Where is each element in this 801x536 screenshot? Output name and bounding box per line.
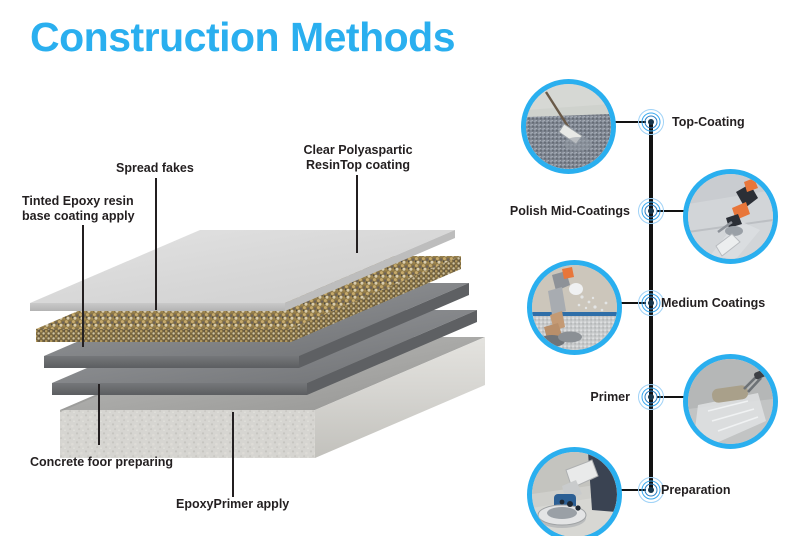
callout-tinted-epoxy: Tinted Epoxy resin base coating apply (22, 194, 135, 224)
photo-medium-coatings[interactable] (527, 260, 622, 355)
timeline-label-top-coating: Top-Coating (672, 115, 745, 129)
leader-line-spread-flakes (155, 178, 157, 310)
infographic-canvas: Construction Methods (0, 0, 801, 536)
squeegee-spreading-topcoat-image (526, 84, 611, 169)
leader-line-tinted-epoxy (82, 225, 84, 347)
photo-top-coating[interactable] (521, 79, 616, 174)
timeline-label-primer: Primer (420, 390, 630, 404)
layer-stack-graphic (30, 215, 500, 480)
node-center-dot (648, 394, 654, 400)
worker-polishing-floor-image (688, 174, 773, 259)
leader-line-concrete-floor (98, 384, 100, 445)
photo-polish-mid-coatings[interactable] (683, 169, 778, 264)
worker-broadcasting-flakes-image (532, 265, 617, 350)
roller-applying-primer-image (688, 359, 773, 444)
timeline-label-medium-coatings: Medium Coatings (661, 296, 765, 310)
callout-spread-flakes: Spread fakes (116, 161, 194, 176)
photo-preparation[interactable] (527, 447, 622, 536)
callout-concrete-floor: Concrete foor preparing (30, 455, 173, 470)
photo-primer[interactable] (683, 354, 778, 449)
leader-line-clear-topcoat (356, 175, 358, 253)
callout-clear-topcoat: Clear Polyaspartic ResinTop coating (303, 143, 413, 173)
floor-grinding-machine-image (532, 452, 617, 536)
node-top-coating[interactable] (638, 109, 664, 135)
timeline-label-preparation: Preparation (661, 483, 730, 497)
callout-epoxy-primer: EpoxyPrimer apply (176, 497, 289, 512)
node-center-dot (648, 300, 654, 306)
exploded-layer-diagram (30, 215, 500, 480)
leader-line-epoxy-primer (232, 412, 234, 497)
node-primer[interactable] (638, 384, 664, 410)
node-center-dot (648, 119, 654, 125)
page-title: Construction Methods (30, 14, 455, 61)
timeline-label-polish-mid-coatings: Polish Mid-Coatings (420, 204, 630, 218)
node-center-dot (648, 208, 654, 214)
node-polish-mid-coatings[interactable] (638, 198, 664, 224)
node-center-dot (648, 487, 654, 493)
